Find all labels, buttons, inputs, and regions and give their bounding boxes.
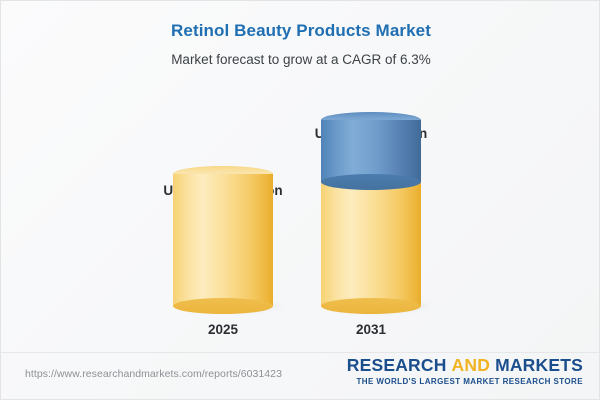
- brand-name: RESEARCHANDMARKETS: [347, 356, 583, 375]
- chart-header: Retinol Beauty Products Market Market fo…: [1, 1, 600, 67]
- source-url-link[interactable]: https://www.researchandmarkets.com/repor…: [25, 368, 282, 380]
- cylinder-body-base-2031: [321, 174, 421, 306]
- brand-word-markets: MARKETS: [495, 355, 583, 375]
- axis-label-2025: 2025: [208, 322, 238, 337]
- chart-subtitle: Market forecast to grow at a CAGR of 6.3…: [1, 52, 600, 67]
- footer: https://www.researchandmarkets.com/repor…: [1, 353, 600, 399]
- cylinder-base-2031: [321, 298, 421, 314]
- cylinder-base-2025: [173, 298, 273, 314]
- cylinder-body-growth-2031: [321, 120, 421, 182]
- axis-label-2031: 2031: [356, 322, 386, 337]
- brand-logo: RESEARCHANDMARKETS THE WORLD'S LARGEST M…: [347, 356, 583, 387]
- brand-tagline: THE WORLD'S LARGEST MARKET RESEARCH STOR…: [347, 376, 583, 387]
- brand-word-research: RESEARCH: [347, 355, 447, 375]
- cylinder-2025: [173, 166, 273, 306]
- cylinder-2031: [321, 112, 421, 306]
- page-title: Retinol Beauty Products Market: [1, 21, 600, 41]
- chart-plot-area: USD 911.32 Million 2025 USD 1,310 Millio…: [1, 89, 600, 339]
- cylinder-segment-base-2025: [173, 166, 273, 306]
- market-forecast-infographic: Retinol Beauty Products Market Market fo…: [0, 0, 600, 400]
- cylinder-body-2025: [173, 174, 273, 306]
- cylinder-segment-growth-2031: [321, 112, 421, 182]
- brand-word-and: AND: [452, 355, 491, 375]
- cylinder-divider-2031: [321, 174, 421, 190]
